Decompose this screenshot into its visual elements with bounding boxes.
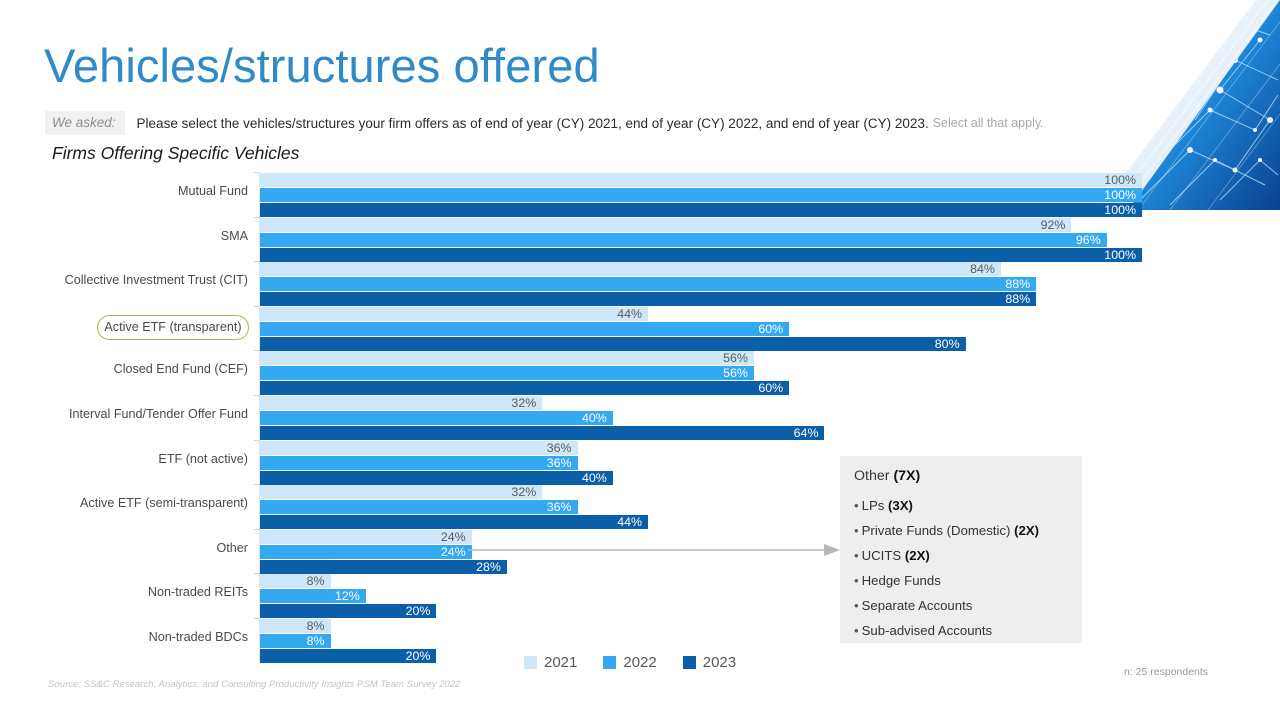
callout-item-label: UCITS (862, 548, 905, 563)
bar-value-interval-fund-tender-offer-fund-2022: 40% (571, 411, 607, 425)
bar-value-sma-2023: 100% (1100, 248, 1136, 262)
bar-group-collective-investment-trust-cit: Collective Investment Trust (CIT)84%88%8… (0, 261, 1280, 306)
category-label-mutual-fund: Mutual Fund (0, 184, 248, 198)
bar-collective-investment-trust-cit-2021 (260, 262, 1001, 276)
chart-legend: 202120222023 (524, 654, 736, 671)
callout-item-count: (3X) (888, 498, 913, 513)
bullet-icon: • (854, 548, 862, 563)
legend-swatch-2021 (524, 656, 537, 669)
callout-title-text: Other (854, 468, 893, 484)
callout-item: •Private Funds (Domestic) (2X) (854, 518, 1068, 543)
category-label-non-traded-bdcs: Non-traded BDCs (0, 630, 248, 644)
other-responses-callout: Other (7X) •LPs (3X)•Private Funds (Dome… (840, 456, 1082, 643)
bar-group-etf-not-active: ETF (not active)36%36%40% (0, 440, 1280, 485)
bar-etf-not-active-2022 (260, 456, 578, 470)
bar-chart: Mutual Fund100%100%100%SMA92%96%100%Coll… (0, 172, 1280, 662)
bar-mutual-fund-2023 (260, 203, 1142, 217)
bar-group-sma: SMA92%96%100% (0, 217, 1280, 262)
bar-value-interval-fund-tender-offer-fund-2023: 64% (782, 426, 818, 440)
category-label-sma: SMA (0, 229, 248, 243)
bar-etf-not-active-2023 (260, 471, 613, 485)
bar-value-mutual-fund-2021: 100% (1100, 173, 1136, 187)
bar-active-etf-semi-transparent-2022 (260, 500, 578, 514)
bar-value-sma-2021: 92% (1029, 218, 1065, 232)
bar-value-closed-end-fund-cef-2022: 56% (712, 366, 748, 380)
callout-item-label: Separate Accounts (862, 598, 973, 613)
bar-etf-not-active-2021 (260, 441, 578, 455)
bar-value-active-etf-transparent-2022: 60% (747, 322, 783, 336)
we-asked-strip: We asked: Please select the vehicles/str… (45, 111, 1044, 135)
bar-value-mutual-fund-2023: 100% (1100, 203, 1136, 217)
callout-item-label: Private Funds (Domestic) (862, 523, 1014, 538)
bar-group-closed-end-fund-cef: Closed End Fund (CEF)56%56%60% (0, 350, 1280, 395)
bar-sma-2021 (260, 218, 1071, 232)
survey-question-suffix: Select all that apply. (929, 116, 1044, 130)
bullet-icon: • (854, 598, 862, 613)
survey-question-text: Please select the vehicles/structures yo… (125, 116, 929, 131)
bar-value-closed-end-fund-cef-2021: 56% (712, 351, 748, 365)
callout-item: •Hedge Funds (854, 568, 1068, 593)
callout-item: •Separate Accounts (854, 593, 1068, 618)
callout-item: •Sub-advised Accounts (854, 618, 1068, 643)
bar-value-etf-not-active-2021: 36% (536, 441, 572, 455)
bar-value-etf-not-active-2023: 40% (571, 471, 607, 485)
bar-value-other-2021: 24% (430, 530, 466, 544)
category-label-other: Other (0, 541, 248, 555)
bar-active-etf-transparent-2021 (260, 307, 648, 321)
bar-value-other-2023: 28% (465, 560, 501, 574)
legend-item-2022[interactable]: 2022 (603, 654, 656, 671)
bar-collective-investment-trust-cit-2022 (260, 277, 1036, 291)
bar-sma-2022 (260, 233, 1107, 247)
bar-closed-end-fund-cef-2023 (260, 381, 789, 395)
bar-value-other-2022: 24% (430, 545, 466, 559)
bullet-icon: • (854, 498, 862, 513)
legend-label: 2021 (544, 654, 577, 671)
category-label-closed-end-fund-cef: Closed End Fund (CEF) (0, 362, 248, 376)
bar-sma-2023 (260, 248, 1142, 262)
bar-active-etf-transparent-2023 (260, 337, 966, 351)
page-title: Vehicles/structures offered (44, 38, 600, 93)
legend-item-2021[interactable]: 2021 (524, 654, 577, 671)
bar-interval-fund-tender-offer-fund-2023 (260, 426, 824, 440)
bar-mutual-fund-2022 (260, 188, 1142, 202)
bar-value-active-etf-semi-transparent-2021: 32% (500, 485, 536, 499)
bullet-icon: • (854, 623, 862, 638)
callout-item: •LPs (3X) (854, 493, 1068, 518)
bar-group-non-traded-reits: Non-traded REITs8%12%20% (0, 573, 1280, 618)
bar-value-closed-end-fund-cef-2023: 60% (747, 381, 783, 395)
bar-group-active-etf-semi-transparent: Active ETF (semi-transparent)32%36%44% (0, 484, 1280, 529)
category-label-active-etf-transparent: Active ETF (transparent) (97, 315, 249, 340)
bar-value-non-traded-bdcs-2021: 8% (289, 619, 325, 633)
bar-active-etf-transparent-2022 (260, 322, 789, 336)
bar-value-active-etf-semi-transparent-2023: 44% (606, 515, 642, 529)
bar-value-collective-investment-trust-cit-2021: 84% (959, 262, 995, 276)
bar-group-mutual-fund: Mutual Fund100%100%100% (0, 172, 1280, 217)
bar-active-etf-semi-transparent-2023 (260, 515, 648, 529)
callout-item-count: (2X) (905, 548, 930, 563)
bar-value-active-etf-semi-transparent-2022: 36% (536, 500, 572, 514)
category-label-non-traded-reits: Non-traded REITs (0, 585, 248, 599)
bar-value-non-traded-reits-2023: 20% (394, 604, 430, 618)
callout-title-count: (7X) (893, 468, 920, 484)
bar-collective-investment-trust-cit-2023 (260, 292, 1036, 306)
category-label-etf-not-active: ETF (not active) (0, 452, 248, 466)
bullet-icon: • (854, 573, 862, 588)
bar-group-active-etf-transparent: Active ETF (transparent)44%60%80% (0, 306, 1280, 351)
bar-value-sma-2022: 96% (1065, 233, 1101, 247)
callout-item-label: Hedge Funds (862, 573, 941, 588)
legend-swatch-2023 (683, 656, 696, 669)
bar-value-interval-fund-tender-offer-fund-2021: 32% (500, 396, 536, 410)
callout-item-label: LPs (862, 498, 888, 513)
category-label-active-etf-semi-transparent: Active ETF (semi-transparent) (0, 496, 248, 510)
category-label-interval-fund-tender-offer-fund: Interval Fund/Tender Offer Fund (0, 407, 248, 421)
bar-value-active-etf-transparent-2021: 44% (606, 307, 642, 321)
legend-swatch-2022 (603, 656, 616, 669)
callout-connector-arrow (468, 543, 840, 557)
bar-value-collective-investment-trust-cit-2023: 88% (994, 292, 1030, 306)
bar-value-etf-not-active-2022: 36% (536, 456, 572, 470)
bullet-icon: • (854, 523, 862, 538)
we-asked-label: We asked: (45, 111, 125, 135)
callout-item-count: (2X) (1014, 523, 1039, 538)
bar-value-non-traded-reits-2022: 12% (324, 589, 360, 603)
callout-item: •UCITS (2X) (854, 543, 1068, 568)
source-note: Source: SS&C Research, Analytics, and Co… (48, 679, 461, 690)
legend-label: 2023 (703, 654, 736, 671)
bar-value-collective-investment-trust-cit-2022: 88% (994, 277, 1030, 291)
chart-title: Firms Offering Specific Vehicles (52, 143, 299, 164)
category-label-collective-investment-trust-cit: Collective Investment Trust (CIT) (0, 273, 248, 287)
callout-item-label: Sub-advised Accounts (862, 623, 993, 638)
bar-interval-fund-tender-offer-fund-2022 (260, 411, 613, 425)
bar-value-non-traded-reits-2021: 8% (289, 574, 325, 588)
bar-value-non-traded-bdcs-2022: 8% (289, 634, 325, 648)
bar-group-interval-fund-tender-offer-fund: Interval Fund/Tender Offer Fund32%40%64% (0, 395, 1280, 440)
bar-closed-end-fund-cef-2021 (260, 351, 754, 365)
legend-item-2023[interactable]: 2023 (683, 654, 736, 671)
respondents-note: n: 25 respondents (1124, 666, 1208, 678)
bar-value-non-traded-bdcs-2023: 20% (394, 649, 430, 663)
bar-mutual-fund-2021 (260, 173, 1142, 187)
bar-value-active-etf-transparent-2023: 80% (924, 337, 960, 351)
legend-label: 2022 (623, 654, 656, 671)
bar-closed-end-fund-cef-2022 (260, 366, 754, 380)
callout-title: Other (7X) (854, 468, 1068, 484)
bar-value-mutual-fund-2022: 100% (1100, 188, 1136, 202)
